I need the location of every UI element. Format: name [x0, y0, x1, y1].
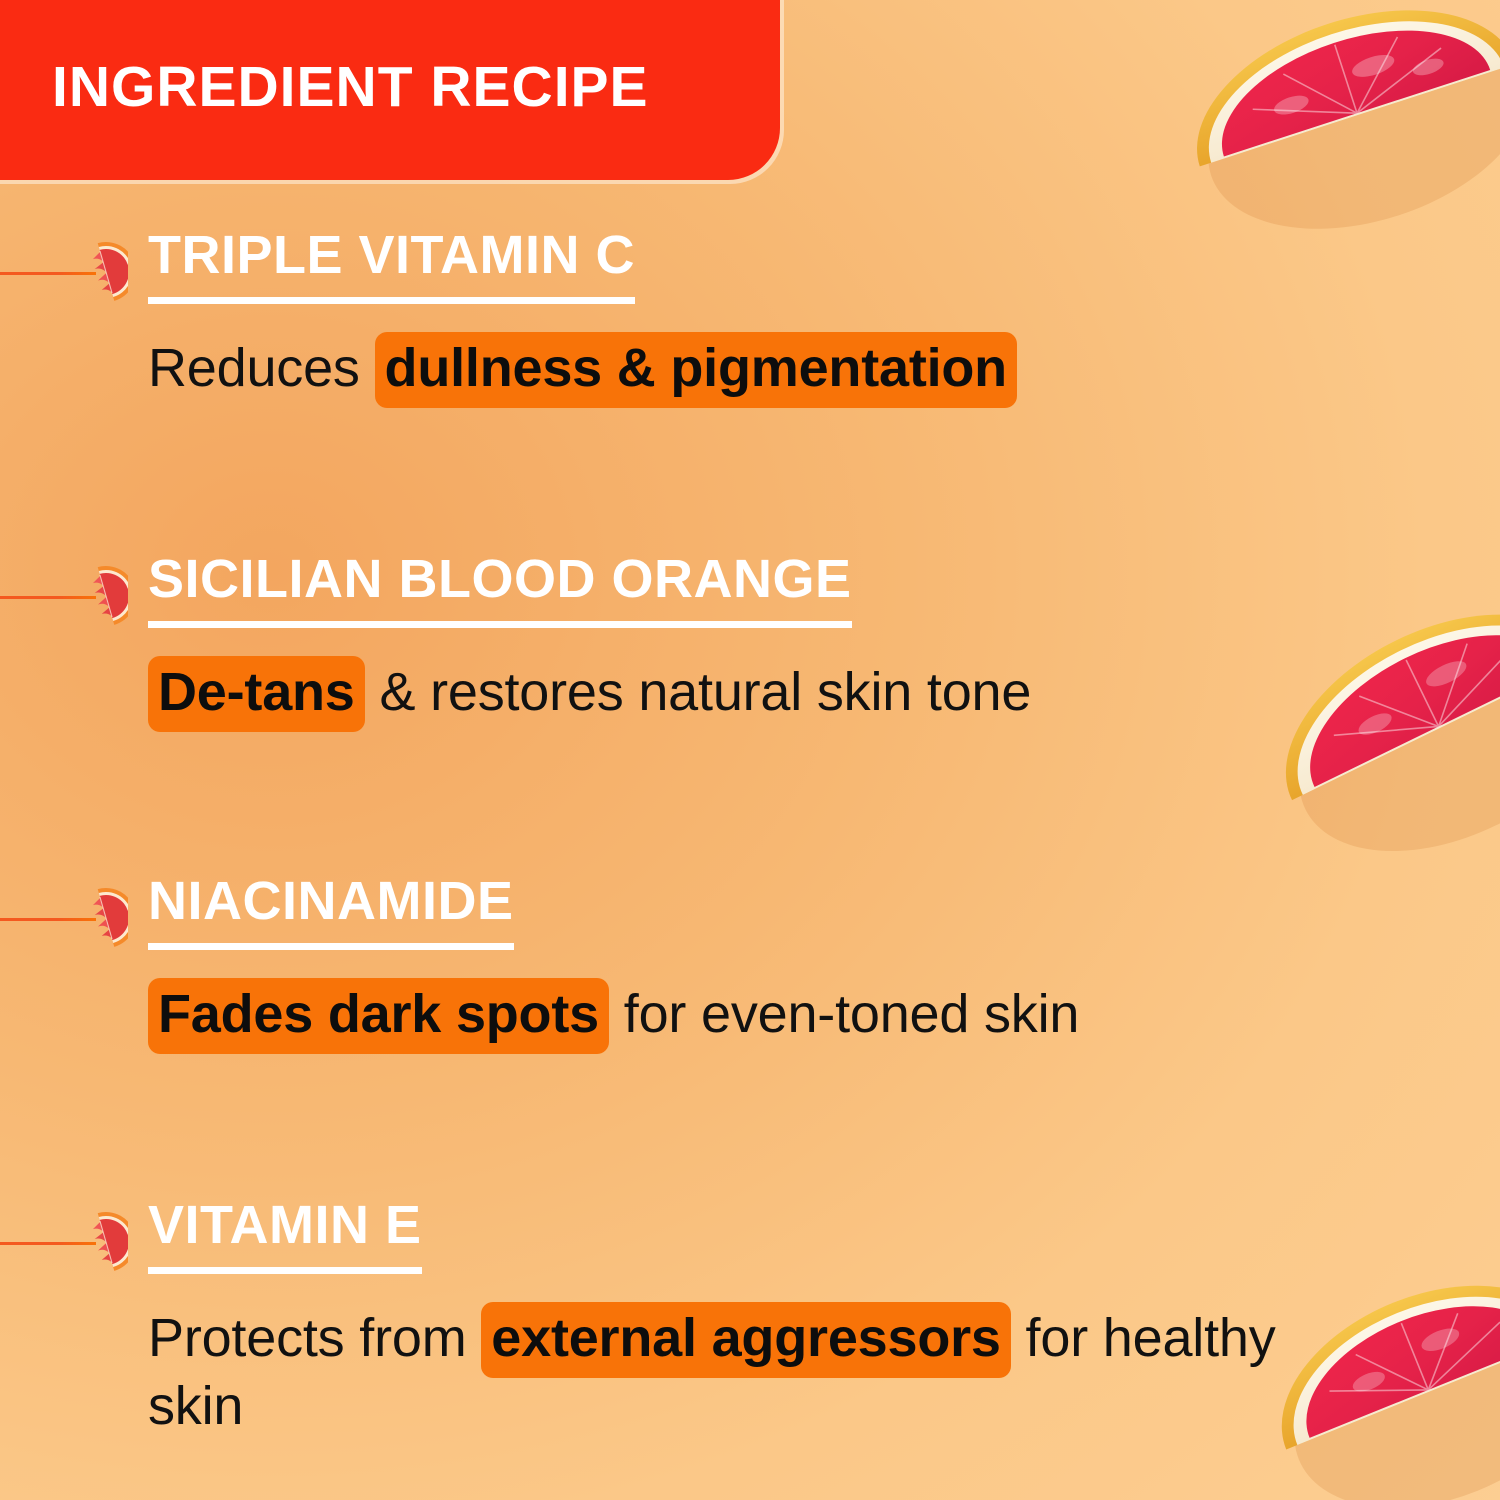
grapefruit-slice-icon — [84, 886, 128, 950]
ingredient-name: VITAMIN E — [148, 1198, 422, 1274]
connector-line-icon — [0, 272, 96, 275]
connector-line-icon — [0, 596, 96, 599]
grapefruit-slice-icon — [84, 1210, 128, 1274]
ingredient-item-niacinamide: NIACINAMIDE Fades dark spots for even-to… — [0, 874, 1500, 1048]
connector-line-icon — [0, 918, 96, 921]
ingredient-name: NIACINAMIDE — [148, 874, 514, 950]
ingredient-recipe-poster: INGREDIENT RECIPE — [0, 0, 1500, 1500]
connector-line-icon — [0, 1242, 96, 1245]
highlighted-phrase: dullness & pigmentation — [375, 332, 1017, 408]
highlighted-phrase: De-tans — [148, 656, 365, 732]
ingredient-list: TRIPLE VITAMIN C Reduces dullness & pigm… — [0, 228, 1500, 1440]
ingredient-name: TRIPLE VITAMIN C — [148, 228, 635, 304]
ingredient-description: Protects from external aggressors for he… — [148, 1304, 1298, 1440]
ingredient-description: De-tans & restores natural skin tone — [148, 658, 1298, 726]
ingredient-description: Fades dark spots for even-toned skin — [148, 980, 1298, 1048]
grapefruit-slice-icon — [84, 564, 128, 628]
page-title: INGREDIENT RECIPE — [0, 45, 649, 116]
highlighted-phrase: external aggressors — [481, 1302, 1010, 1378]
title-banner: INGREDIENT RECIPE — [0, 0, 780, 180]
ingredient-description: Reduces dullness & pigmentation — [148, 334, 1298, 402]
highlighted-phrase: Fades dark spots — [148, 978, 609, 1054]
grapefruit-slice-icon — [84, 240, 128, 304]
ingredient-name: SICILIAN BLOOD ORANGE — [148, 552, 852, 628]
